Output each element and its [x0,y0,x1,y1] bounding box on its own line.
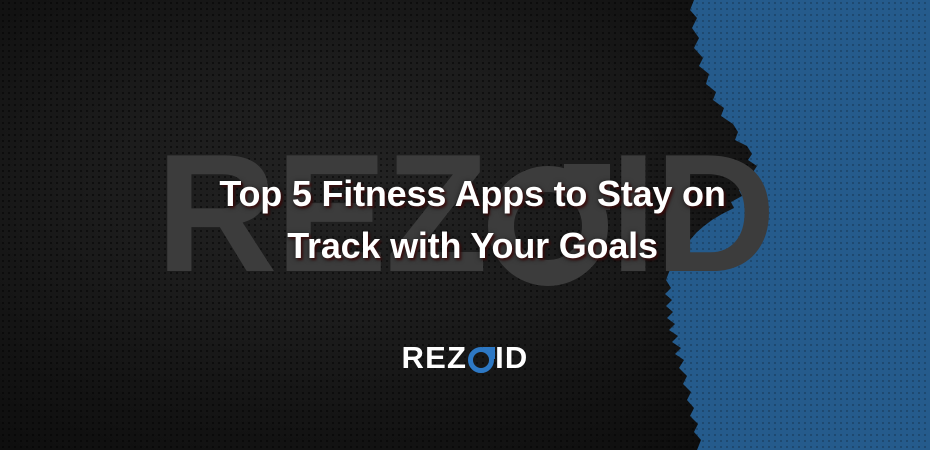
headline-line-2: Track with Your Goals [95,220,850,272]
logo-ring-icon [468,347,494,373]
promo-banner: REZID REZID Top 5 Fitness Apps to Stay o… [0,0,930,450]
headline: Top 5 Fitness Apps to Stay on Track with… [95,168,850,272]
brand-logo: REZID [0,340,930,376]
logo-prefix: REZ [401,340,467,376]
headline-line-1: Top 5 Fitness Apps to Stay on [95,168,850,220]
logo-suffix: ID [495,340,528,376]
